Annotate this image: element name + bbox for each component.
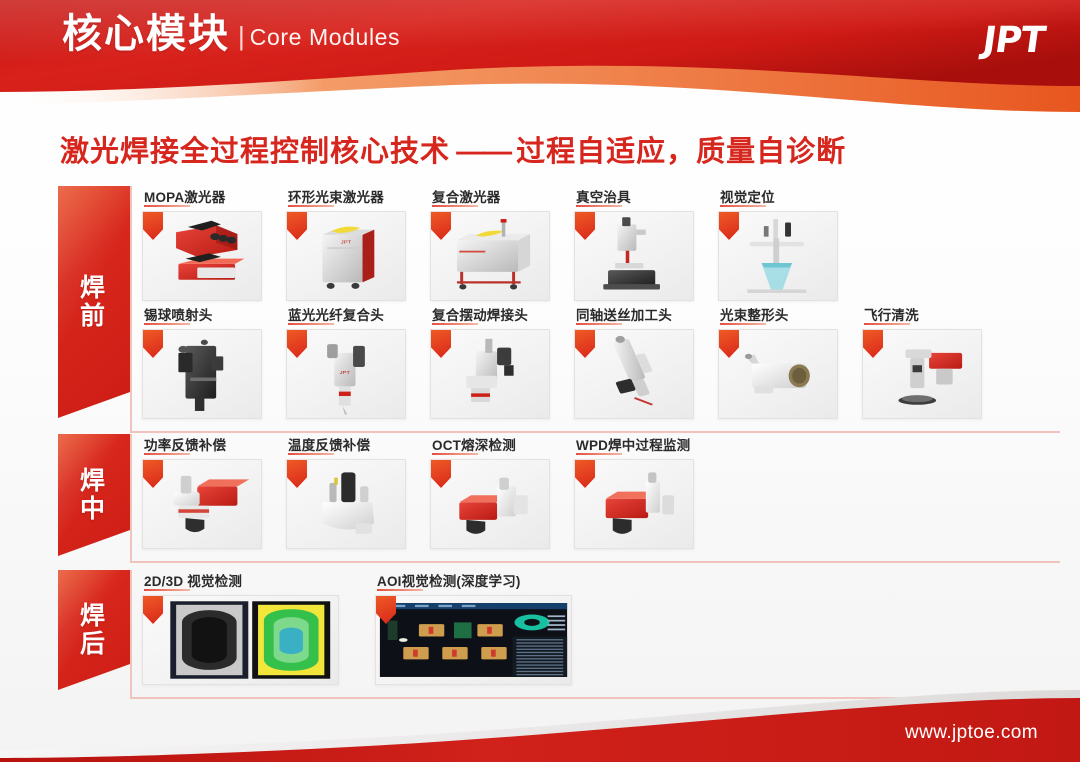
page-title-dash: —— <box>450 136 516 168</box>
header-title-cn: 核心模块 <box>62 14 230 54</box>
product-card-label: 复合摆动焊接头 <box>432 304 528 324</box>
product-card-underline <box>144 323 190 325</box>
product-card-underline <box>576 453 622 455</box>
product-card-underline <box>288 205 334 207</box>
product-card-underline <box>377 589 423 591</box>
product-card-image-frame <box>430 211 550 301</box>
product-card-image-frame <box>286 459 406 549</box>
product-card-label: AOI视觉检测(深度学习) <box>377 570 521 590</box>
stage-body-pre-weld: MOPA激光器 环形光束激光器 <box>130 186 1060 433</box>
stage-tab-char: 焊 <box>80 602 108 630</box>
product-card-underline <box>720 323 766 325</box>
header-title-group: 核心模块 | Core Modules <box>62 14 400 54</box>
product-card-label: 蓝光光纤复合头 <box>288 304 384 324</box>
page-title-part1: 激光焊接全过程控制核心技术 <box>60 136 450 168</box>
footer-banner-shape <box>0 672 1080 762</box>
product-card-label: MOPA激光器 <box>144 186 225 206</box>
product-card-label: 飞行清洗 <box>864 304 919 324</box>
product-card-underline <box>576 323 622 325</box>
product-card-label: 环形光束激光器 <box>288 186 384 206</box>
product-card-image-frame <box>430 459 550 549</box>
product-card-image-frame <box>862 329 982 419</box>
header-title-separator: | <box>238 21 245 52</box>
product-card-label: 锡球喷射头 <box>144 304 213 324</box>
product-card-image-frame <box>142 459 262 549</box>
stage-body-in-weld: 功率反馈补偿 温度反馈补偿 <box>130 434 1060 563</box>
product-card-label: 温度反馈补偿 <box>288 434 370 454</box>
product-card-label: 功率反馈补偿 <box>144 434 226 454</box>
product-card-image-frame <box>718 211 838 301</box>
stage-tab-in-weld[interactable]: 焊中 <box>58 434 130 556</box>
product-card-underline <box>432 205 478 207</box>
product-card-underline <box>576 205 622 207</box>
stage-tab-char: 焊 <box>80 274 108 302</box>
product-card-image-frame: JPT <box>286 329 406 419</box>
product-card-image-frame <box>574 329 694 419</box>
header-banner: 核心模块 | Core Modules JPT <box>0 0 1080 120</box>
product-card-image-frame <box>574 211 694 301</box>
product-card-underline <box>432 453 478 455</box>
product-card-label: 视觉定位 <box>720 186 775 206</box>
slide-page: 核心模块 | Core Modules JPT 激光焊接全过程控制核心技术 ——… <box>0 0 1080 762</box>
product-card-image-frame: JPT <box>286 211 406 301</box>
stage-tab-char: 焊 <box>80 467 108 495</box>
product-card-underline <box>144 205 190 207</box>
product-image-aoi-vision-inspection <box>376 596 571 684</box>
product-card-underline <box>288 323 334 325</box>
product-image-2d-3d-vision-inspection <box>143 596 338 684</box>
jpt-logo: JPT <box>980 20 1047 61</box>
header-title-en: Core Modules <box>250 24 400 51</box>
stage-tab-char: 前 <box>80 302 108 330</box>
product-card-underline <box>864 323 910 325</box>
svg-text:JPT: JPT <box>340 371 351 376</box>
product-card-label: OCT熔深检测 <box>432 434 516 454</box>
product-card-image-frame <box>142 211 262 301</box>
stage-tab-pre-weld[interactable]: 焊前 <box>58 186 130 418</box>
svg-text:JPT: JPT <box>341 240 352 245</box>
product-card-label: 同轴送丝加工头 <box>576 304 672 324</box>
product-card-label: 复合激光器 <box>432 186 501 206</box>
stage-tab-char: 后 <box>80 630 108 658</box>
product-card-underline <box>144 453 190 455</box>
product-card-underline <box>720 205 766 207</box>
footer-banner: www.jptoe.com <box>0 672 1080 762</box>
page-title: 激光焊接全过程控制核心技术 —— 过程自适应，质量自诊断 <box>60 128 846 170</box>
product-card-underline <box>432 323 478 325</box>
stage-tab-char: 中 <box>80 495 108 523</box>
product-card-label: 光束整形头 <box>720 304 789 324</box>
product-card-underline <box>288 453 334 455</box>
product-card-image-frame <box>430 329 550 419</box>
product-card-image-frame <box>574 459 694 549</box>
footer-website-url: www.jptoe.com <box>905 722 1038 744</box>
product-card-image-frame <box>142 329 262 419</box>
product-card-label: 真空治具 <box>576 186 631 206</box>
product-card-underline <box>144 589 190 591</box>
product-card-image-frame <box>718 329 838 419</box>
page-title-part2: 过程自适应，质量自诊断 <box>516 136 846 168</box>
product-card-label: 2D/3D 视觉检测 <box>144 570 242 590</box>
product-card-label: WPD焊中过程监测 <box>576 434 690 454</box>
